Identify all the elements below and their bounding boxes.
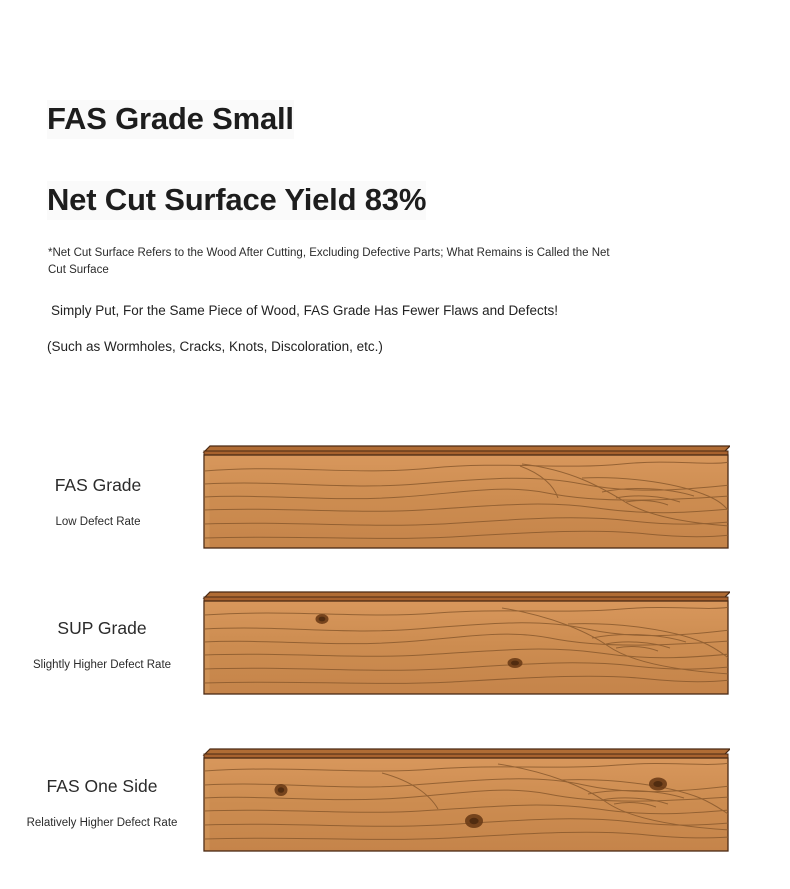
- body-line-primary: Simply Put, For the Same Piece of Wood, …: [51, 303, 558, 318]
- grade-name: SUP Grade: [4, 618, 200, 639]
- body-line-secondary: (Such as Wormholes, Cracks, Knots, Disco…: [47, 339, 383, 354]
- wood-plank-sup: [202, 586, 730, 696]
- grade-defect-rate: Slightly Higher Defect Rate: [4, 659, 200, 671]
- page-title: FAS Grade Small: [47, 100, 294, 139]
- grade-label-group: FAS One Side Relatively Higher Defect Ra…: [4, 776, 200, 829]
- wood-plank-fas-one-side: [202, 743, 730, 853]
- footnote-text: *Net Cut Surface Refers to the Wood Afte…: [48, 245, 628, 278]
- grade-label-group: SUP Grade Slightly Higher Defect Rate: [4, 618, 200, 671]
- page-subtitle: Net Cut Surface Yield 83%: [47, 181, 426, 220]
- grade-defect-rate: Relatively Higher Defect Rate: [4, 817, 200, 829]
- grade-label-group: FAS Grade Low Defect Rate: [0, 475, 196, 528]
- grade-defect-rate: Low Defect Rate: [0, 516, 196, 528]
- grade-name: FAS One Side: [4, 776, 200, 797]
- document-page: FAS Grade Small Net Cut Surface Yield 83…: [0, 0, 790, 889]
- grade-name: FAS Grade: [0, 475, 196, 496]
- wood-plank-fas: [202, 440, 730, 550]
- heading-block: FAS Grade Small Net Cut Surface Yield 83…: [47, 100, 667, 220]
